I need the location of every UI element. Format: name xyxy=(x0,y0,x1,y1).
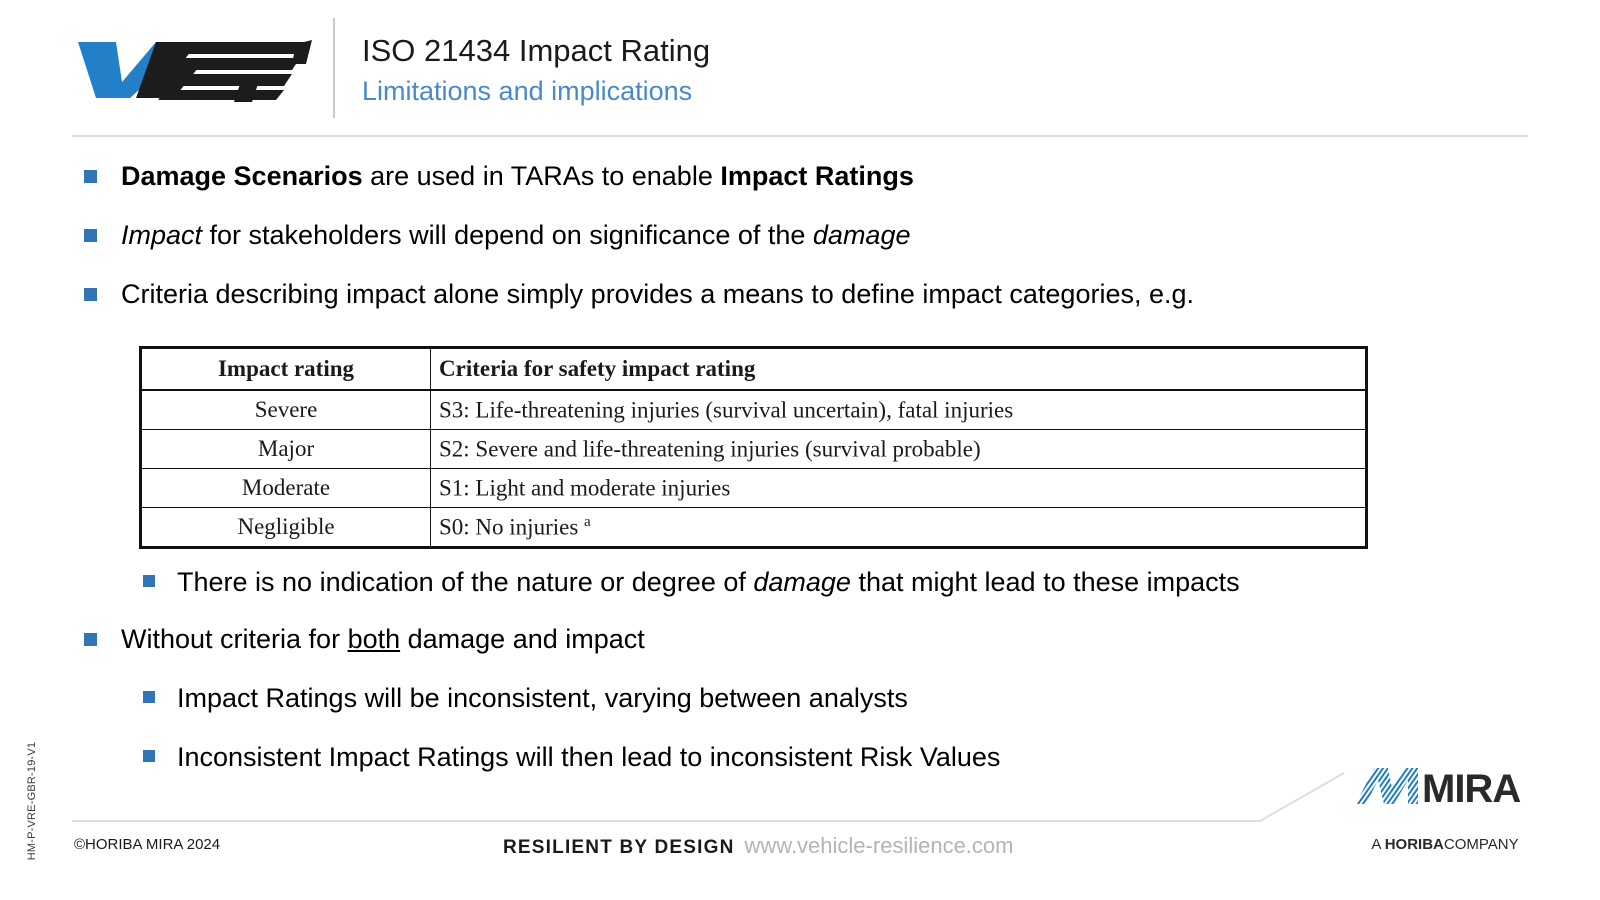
criteria-text: S3: Life-threatening injuries (survival … xyxy=(439,397,1013,422)
footer-rule xyxy=(72,820,1262,822)
footer-tagline: RESILIENT BY DESIGN xyxy=(503,837,735,859)
mira-tagline-prefix: A xyxy=(1371,836,1384,853)
cell-impact-rating: Negligible xyxy=(141,508,431,548)
impact-rating-table: Impact rating Criteria for safety impact… xyxy=(139,346,1368,549)
bullet-square-icon xyxy=(143,691,155,703)
footer-url[interactable]: www.vehicle-resilience.com xyxy=(745,833,1014,859)
cell-criteria: S3: Life-threatening injuries (survival … xyxy=(431,390,1367,430)
cell-criteria: S2: Severe and life-threatening injuries… xyxy=(431,430,1367,469)
bullet-item: Criteria describing impact alone simply … xyxy=(84,276,1194,312)
mira-tagline: A HORIBACOMPANY xyxy=(1352,836,1538,853)
bullet-text: Impact for stakeholders will depend on s… xyxy=(121,217,910,253)
bullet-item: Without criteria for both damage and imp… xyxy=(84,621,645,657)
header-divider xyxy=(333,18,335,118)
cell-criteria: S1: Light and moderate injuries xyxy=(431,469,1367,508)
table-row: Major S2: Severe and life-threatening in… xyxy=(141,430,1367,469)
bullet-square-icon xyxy=(84,633,97,646)
bullet-text: There is no indication of the nature or … xyxy=(177,564,1240,600)
text-segment: Damage Scenarios xyxy=(121,161,363,191)
footer-branding: RESILIENT BY DESIGN www.vehicle-resilien… xyxy=(503,833,1013,859)
text-segment: Impact xyxy=(121,220,202,250)
bullet-square-icon xyxy=(143,575,155,587)
cell-impact-rating: Severe xyxy=(141,390,431,430)
table-row: Moderate S1: Light and moderate injuries xyxy=(141,469,1367,508)
cell-impact-rating: Moderate xyxy=(141,469,431,508)
column-header-impact-rating: Impact rating xyxy=(141,348,431,391)
bullet-square-icon xyxy=(84,229,97,242)
mira-logo: MIRA xyxy=(1352,762,1538,810)
sub-bullet-item: There is no indication of the nature or … xyxy=(143,564,1240,600)
criteria-text: S2: Severe and life-threatening injuries… xyxy=(439,436,981,461)
text-segment: Impact Ratings xyxy=(720,161,914,191)
mira-tagline-suffix: COMPANY xyxy=(1444,836,1519,853)
table-header-row: Impact rating Criteria for safety impact… xyxy=(141,348,1367,391)
text-segment: that might lead to these impacts xyxy=(851,567,1240,597)
bullet-square-icon xyxy=(143,750,155,762)
criteria-text: S1: Light and moderate injuries xyxy=(439,475,730,500)
mira-tagline-brand: HORIBA xyxy=(1385,836,1444,853)
text-segment: Impact Ratings will be inconsistent, var… xyxy=(177,683,908,713)
text-segment: damage xyxy=(813,220,911,250)
cell-impact-rating: Major xyxy=(141,430,431,469)
column-header-criteria: Criteria for safety impact rating xyxy=(431,348,1367,391)
bullet-text: Criteria describing impact alone simply … xyxy=(121,276,1194,312)
text-segment: Criteria describing impact alone simply … xyxy=(121,279,1194,309)
footnote-marker: a xyxy=(584,514,591,530)
text-segment: are used in TARAs to enable xyxy=(363,161,721,191)
table-row: Negligible S0: No injuries a xyxy=(141,508,1367,548)
bullet-square-icon xyxy=(84,288,97,301)
slide-header: ISO 21434 Impact Rating Limitations and … xyxy=(0,0,1600,136)
sub-bullet-item: Impact Ratings will be inconsistent, var… xyxy=(143,680,908,716)
bullet-text: Impact Ratings will be inconsistent, var… xyxy=(177,680,908,716)
text-segment: damage xyxy=(753,567,851,597)
text-segment: There is no indication of the nature or … xyxy=(177,567,753,597)
footer-rule-angle xyxy=(1260,772,1346,822)
text-segment: damage and impact xyxy=(400,624,645,654)
cell-criteria: S0: No injuries a xyxy=(431,508,1367,548)
bullet-item: Impact for stakeholders will depend on s… xyxy=(84,217,910,253)
criteria-text: S0: No injuries xyxy=(439,514,584,539)
page-title: ISO 21434 Impact Rating xyxy=(362,31,710,71)
table-body: Severe S3: Life-threatening injuries (su… xyxy=(141,390,1367,548)
page-subtitle: Limitations and implications xyxy=(362,73,692,109)
text-segment: Without criteria for xyxy=(121,624,348,654)
sub-bullet-item: Inconsistent Impact Ratings will then le… xyxy=(143,739,1000,775)
bullet-text: Without criteria for both damage and imp… xyxy=(121,621,645,657)
header-rule xyxy=(72,135,1528,137)
text-segment: Inconsistent Impact Ratings will then le… xyxy=(177,742,1000,772)
document-reference-code: HM-P-VRE-GBR-19-V1 xyxy=(26,736,38,866)
bullet-item: Damage Scenarios are used in TARAs to en… xyxy=(84,158,914,194)
bullet-text: Damage Scenarios are used in TARAs to en… xyxy=(121,158,914,194)
svg-text:MIRA: MIRA xyxy=(1422,767,1520,810)
bullet-text: Inconsistent Impact Ratings will then le… xyxy=(177,739,1000,775)
vres-logo xyxy=(70,34,315,104)
text-segment: for stakeholders will depend on signific… xyxy=(202,220,813,250)
text-segment: both xyxy=(348,624,401,654)
copyright-text: ©HORIBA MIRA 2024 xyxy=(74,836,220,853)
bullet-square-icon xyxy=(84,170,97,183)
table-row: Severe S3: Life-threatening injuries (su… xyxy=(141,390,1367,430)
